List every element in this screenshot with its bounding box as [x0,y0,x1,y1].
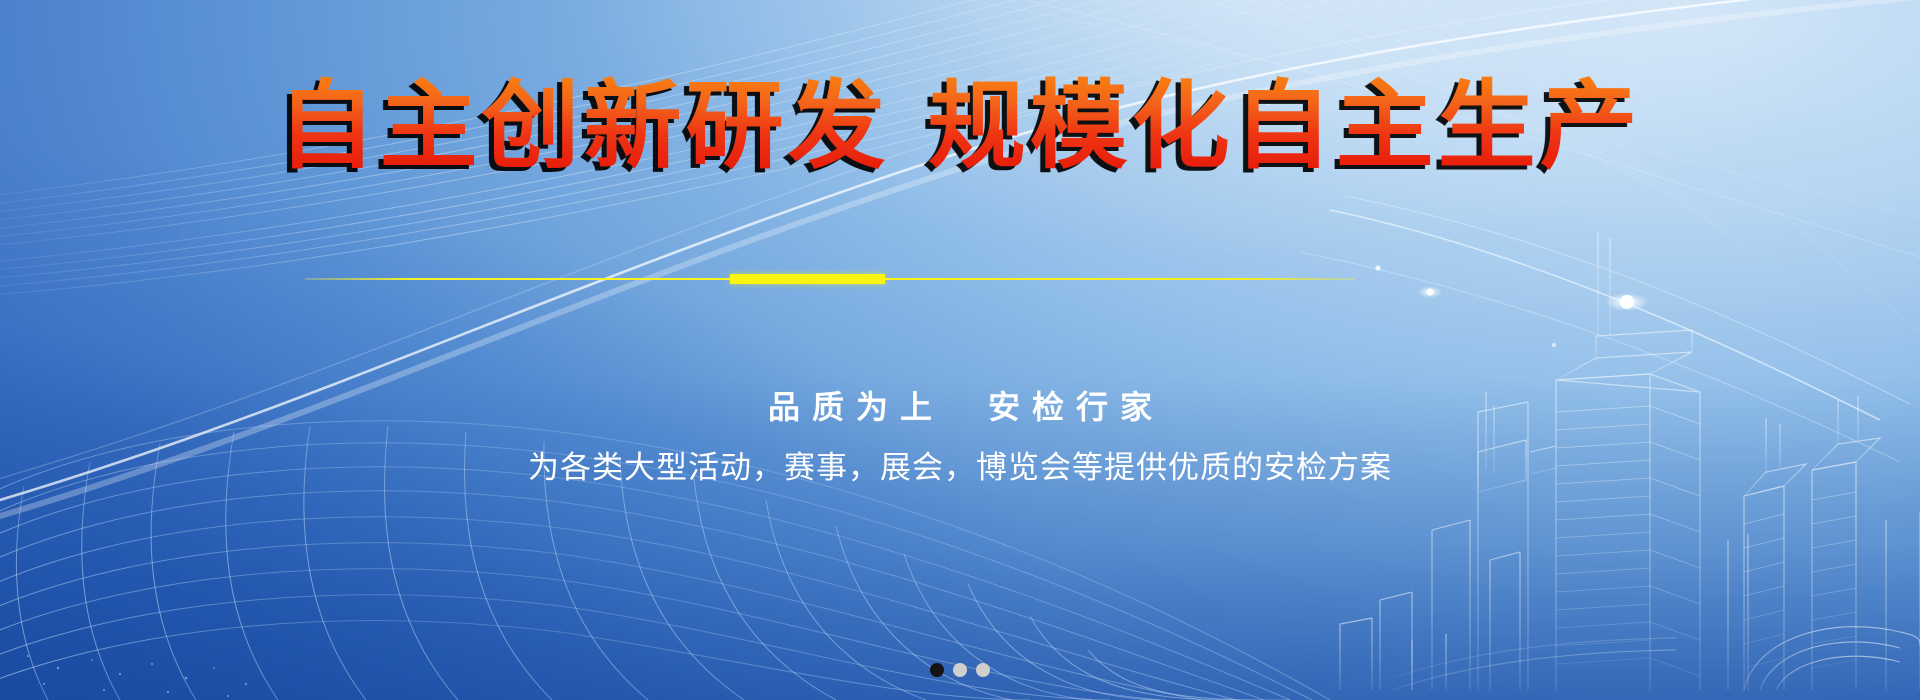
banner-title: 自主创新研发 规模化自主生产 [278,74,1642,178]
hero-banner: 自主创新研发 规模化自主生产 品质为上 安检行家 为各类大型活动，赛事，展会，博… [0,0,1920,700]
subtitle-block: 品质为上 安检行家 为各类大型活动，赛事，展会，博览会等提供优质的安检方案 [0,385,1920,489]
carousel-dots [0,663,1920,677]
carousel-dot-2[interactable] [953,663,967,677]
subtitle-primary: 品质为上 安检行家 [0,385,1920,429]
ribbon-fan-right [1090,0,1920,408]
divider-accent-segment [730,274,885,284]
carousel-dot-3[interactable] [976,663,990,677]
subtitle-secondary: 为各类大型活动，赛事，展会，博览会等提供优质的安检方案 [0,447,1920,489]
decorative-divider [305,273,1355,285]
carousel-dot-1[interactable] [930,663,944,677]
title-block: 自主创新研发 规模化自主生产 [0,74,1920,178]
